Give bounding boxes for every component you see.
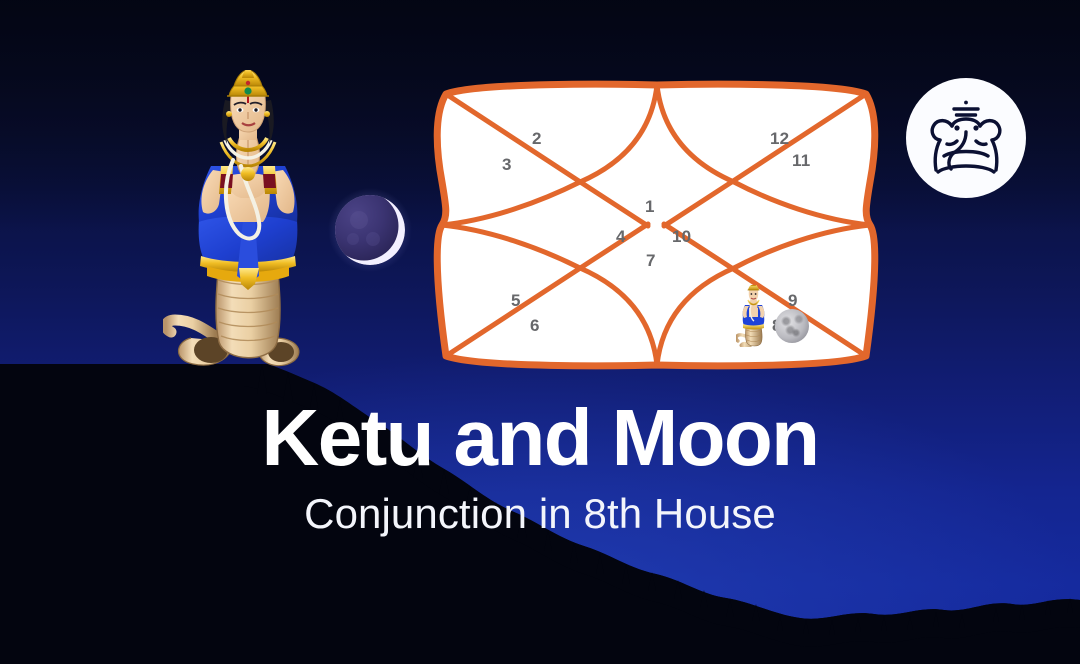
ketu-deity-figure bbox=[163, 70, 333, 370]
house-number-6: 6 bbox=[530, 317, 540, 334]
ganesha-logo-icon bbox=[906, 78, 1026, 198]
house-number-2: 2 bbox=[532, 130, 542, 147]
page-subtitle: Conjunction in 8th House bbox=[0, 492, 1080, 536]
full-moon-icon bbox=[775, 309, 809, 343]
crescent-moon-icon bbox=[327, 187, 413, 273]
ketu-deity-icon bbox=[736, 285, 770, 347]
house-number-7: 7 bbox=[646, 252, 656, 269]
page-title: Ketu and Moon bbox=[0, 398, 1080, 478]
headline-block: Ketu and Moon Conjunction in 8th House bbox=[0, 398, 1080, 536]
house-number-4: 4 bbox=[616, 228, 626, 245]
house-number-11: 11 bbox=[792, 152, 810, 169]
house-number-5: 5 bbox=[511, 292, 521, 309]
house-number-1: 1 bbox=[645, 198, 655, 215]
house-number-12: 12 bbox=[770, 130, 789, 147]
house-number-9: 9 bbox=[788, 292, 798, 309]
house-number-3: 3 bbox=[502, 156, 512, 173]
house-number-10: 10 bbox=[672, 228, 691, 245]
north-indian-birth-chart: 1 2 3 4 5 6 7 8 9 10 11 12 bbox=[420, 70, 890, 380]
banner-stage: 1 2 3 4 5 6 7 8 9 10 11 12 bbox=[0, 0, 1080, 664]
